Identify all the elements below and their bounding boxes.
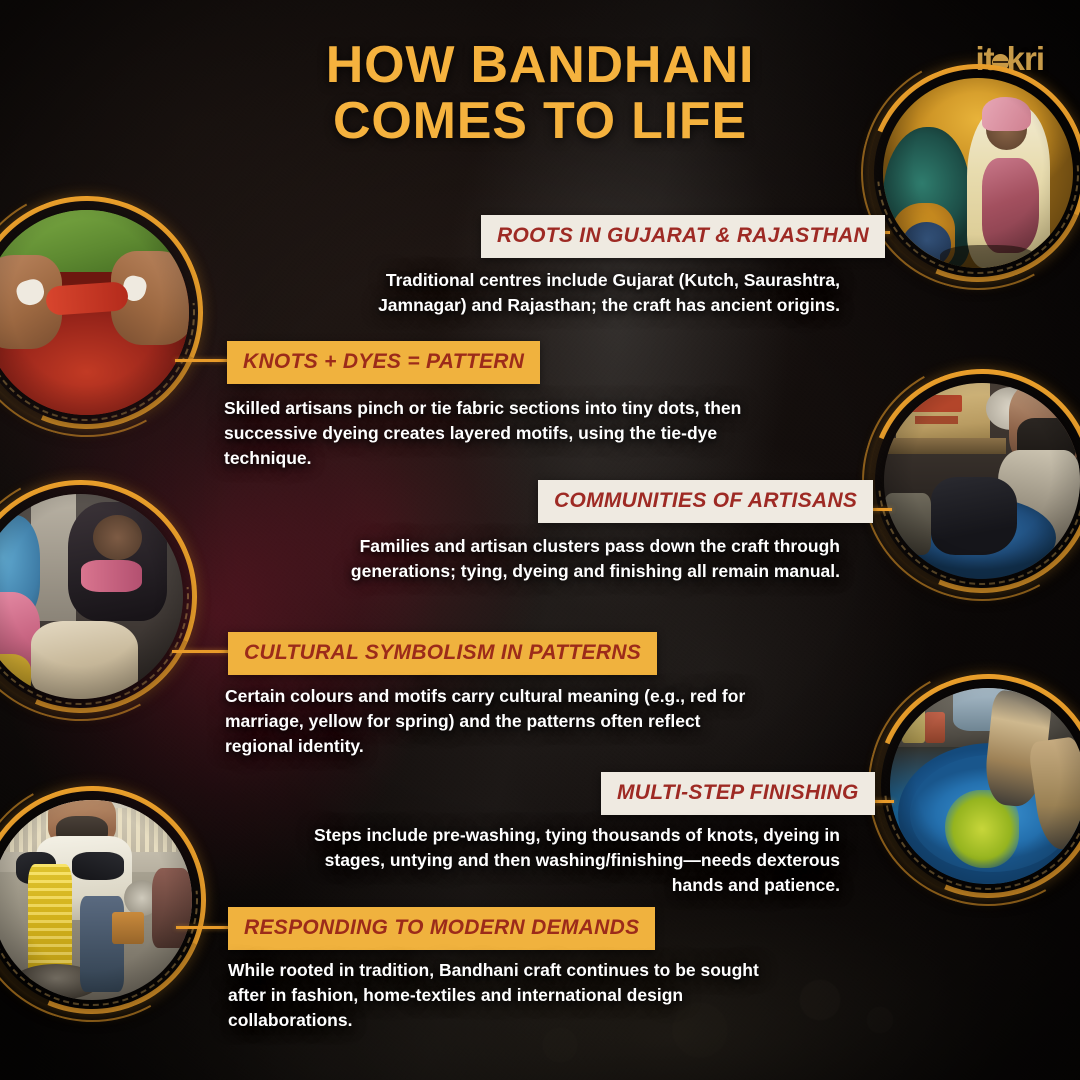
photo-hands-red-knots — [0, 210, 189, 415]
photo-disc — [0, 800, 192, 1000]
section-label-roots: ROOTS IN GUJARAT & RAJASTHAN — [481, 215, 885, 258]
photo-women-cream-fabric — [0, 494, 183, 699]
section-body-finishing: Steps include pre-washing, tying thousan… — [300, 823, 840, 898]
section-label-finishing: MULTI-STEP FINISHING — [601, 772, 875, 815]
photo-disc — [890, 688, 1080, 884]
section-body-modern: While rooted in tradition, Bandhani craf… — [228, 958, 788, 1033]
section-label-knots: KNOTS + DYES = PATTERN — [227, 341, 540, 384]
title-line-1: HOW BANDHANI — [326, 36, 754, 94]
photo-disc — [0, 494, 183, 699]
photo-dyer-blue-vat — [884, 383, 1080, 579]
section-label-modern: RESPONDING TO MODERN DEMANDS — [228, 907, 655, 950]
section-label-communities: COMMUNITIES OF ARTISANS — [538, 480, 873, 523]
section-body-symbolism: Certain colours and motifs carry cultura… — [225, 684, 770, 759]
infographic-poster: HOW BANDHANI COMES TO LIFE itkri — [0, 0, 1080, 1080]
connector-line-knots — [175, 359, 229, 362]
photo-disc — [883, 78, 1073, 268]
section-body-roots: Traditional centres include Gujarat (Kut… — [300, 268, 840, 318]
section-label-symbolism: CULTURAL SYMBOLISM IN PATTERNS — [228, 632, 657, 675]
photo-women-tying — [883, 78, 1073, 268]
connector-line-modern — [176, 926, 230, 929]
photo-disc — [0, 210, 189, 415]
section-body-communities: Families and artisan clusters pass down … — [300, 534, 840, 584]
photo-indigo-vat — [890, 688, 1080, 884]
connector-line-symbolism — [172, 650, 230, 653]
photo-disc — [884, 383, 1080, 579]
section-body-knots: Skilled artisans pinch or tie fabric sec… — [224, 396, 754, 471]
photo-yellow-fabric — [0, 800, 192, 1000]
